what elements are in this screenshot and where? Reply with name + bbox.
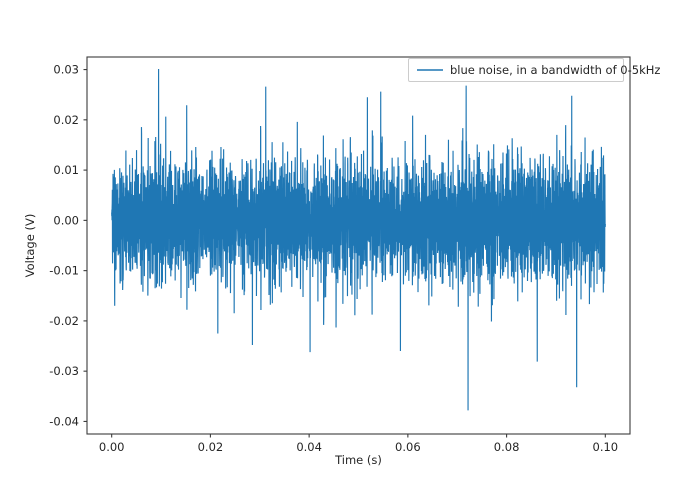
x-tick-label: 0.02 — [198, 440, 224, 454]
y-tick-label: -0.04 — [49, 414, 79, 428]
x-tick-label: 0.08 — [494, 440, 520, 454]
legend[interactable]: blue noise, in a bandwidth of 0-5kHz — [409, 59, 661, 82]
y-axis-ticks: -0.04-0.03-0.02-0.010.000.010.020.03 — [49, 63, 87, 429]
x-tick-label: 0.06 — [395, 440, 421, 454]
y-axis-label: Voltage (V) — [23, 214, 37, 278]
y-tick-label: 0.00 — [53, 213, 79, 227]
x-tick-label: 0.00 — [99, 440, 125, 454]
x-axis-label: Time (s) — [334, 453, 382, 467]
y-tick-label: -0.02 — [49, 314, 79, 328]
x-axis-ticks: 0.000.020.040.060.080.10 — [99, 434, 618, 454]
x-tick-label: 0.04 — [296, 440, 322, 454]
y-tick-label: -0.03 — [49, 364, 79, 378]
y-tick-label: -0.01 — [49, 264, 79, 278]
legend-entry-label: blue noise, in a bandwidth of 0-5kHz — [450, 63, 660, 77]
y-tick-label: 0.03 — [53, 63, 79, 77]
x-tick-label: 0.10 — [593, 440, 619, 454]
chart-canvas: 0.000.020.040.060.080.10 -0.04-0.03-0.02… — [0, 0, 700, 490]
matplotlib-figure: 0.000.020.040.060.080.10 -0.04-0.03-0.02… — [0, 0, 700, 490]
y-tick-label: 0.01 — [53, 163, 79, 177]
y-tick-label: 0.02 — [53, 113, 79, 127]
